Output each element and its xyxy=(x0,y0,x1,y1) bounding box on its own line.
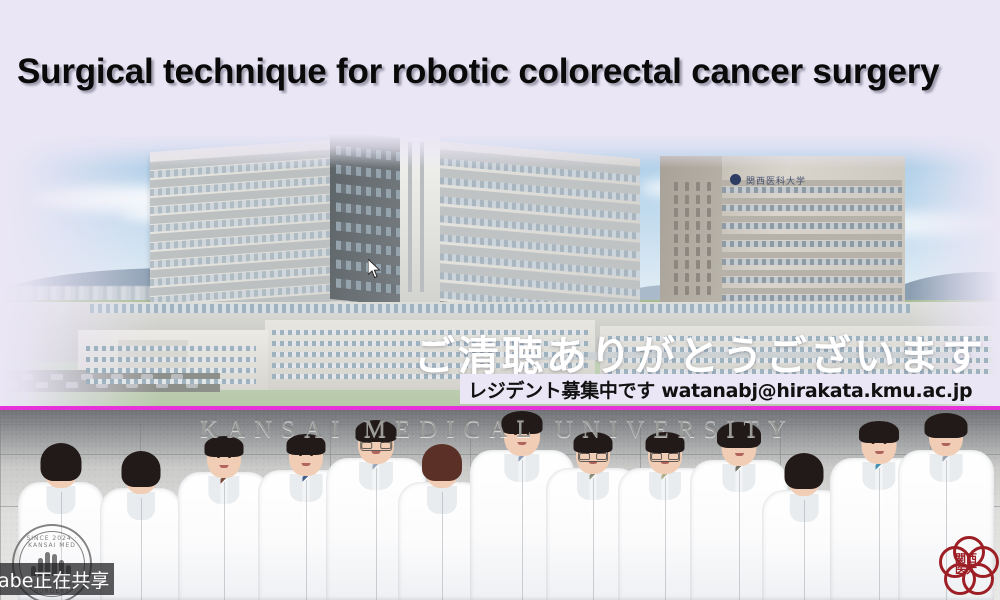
logo-top-text: SINCE 2024 · KANSAI MED xyxy=(14,535,90,549)
seal-line-2: 医大 xyxy=(955,564,977,575)
seal-kanji: 関西 医大 xyxy=(953,552,979,576)
university-red-seal: 関西 医大 xyxy=(938,536,994,592)
screen-share-text: abe正在共享 xyxy=(0,566,109,593)
screen-share-indicator: abe正在共享 xyxy=(0,563,114,595)
page-title: Surgical technique for robotic colorecta… xyxy=(17,52,992,92)
roof-railing xyxy=(90,304,910,313)
arrow-pointer-icon xyxy=(368,259,382,279)
building-signage-text: 関西医科大学 xyxy=(746,174,806,187)
university-emblem-icon xyxy=(730,174,741,185)
title-band: Surgical technique for robotic colorecta… xyxy=(0,0,1000,136)
presentation-slide: Surgical technique for robotic colorecta… xyxy=(0,0,1000,600)
engraved-university-name: KANSAI MEDICAL UNIVERSITY xyxy=(200,416,760,444)
recruitment-banner: レジデント募集中です watanabj@hirakata.kmu.ac.jp xyxy=(460,374,1000,404)
recruitment-text: レジデント募集中です watanabj@hirakata.kmu.ac.jp xyxy=(468,376,972,403)
thank-you-caption: ご清聴ありがとうございます xyxy=(0,322,1000,382)
